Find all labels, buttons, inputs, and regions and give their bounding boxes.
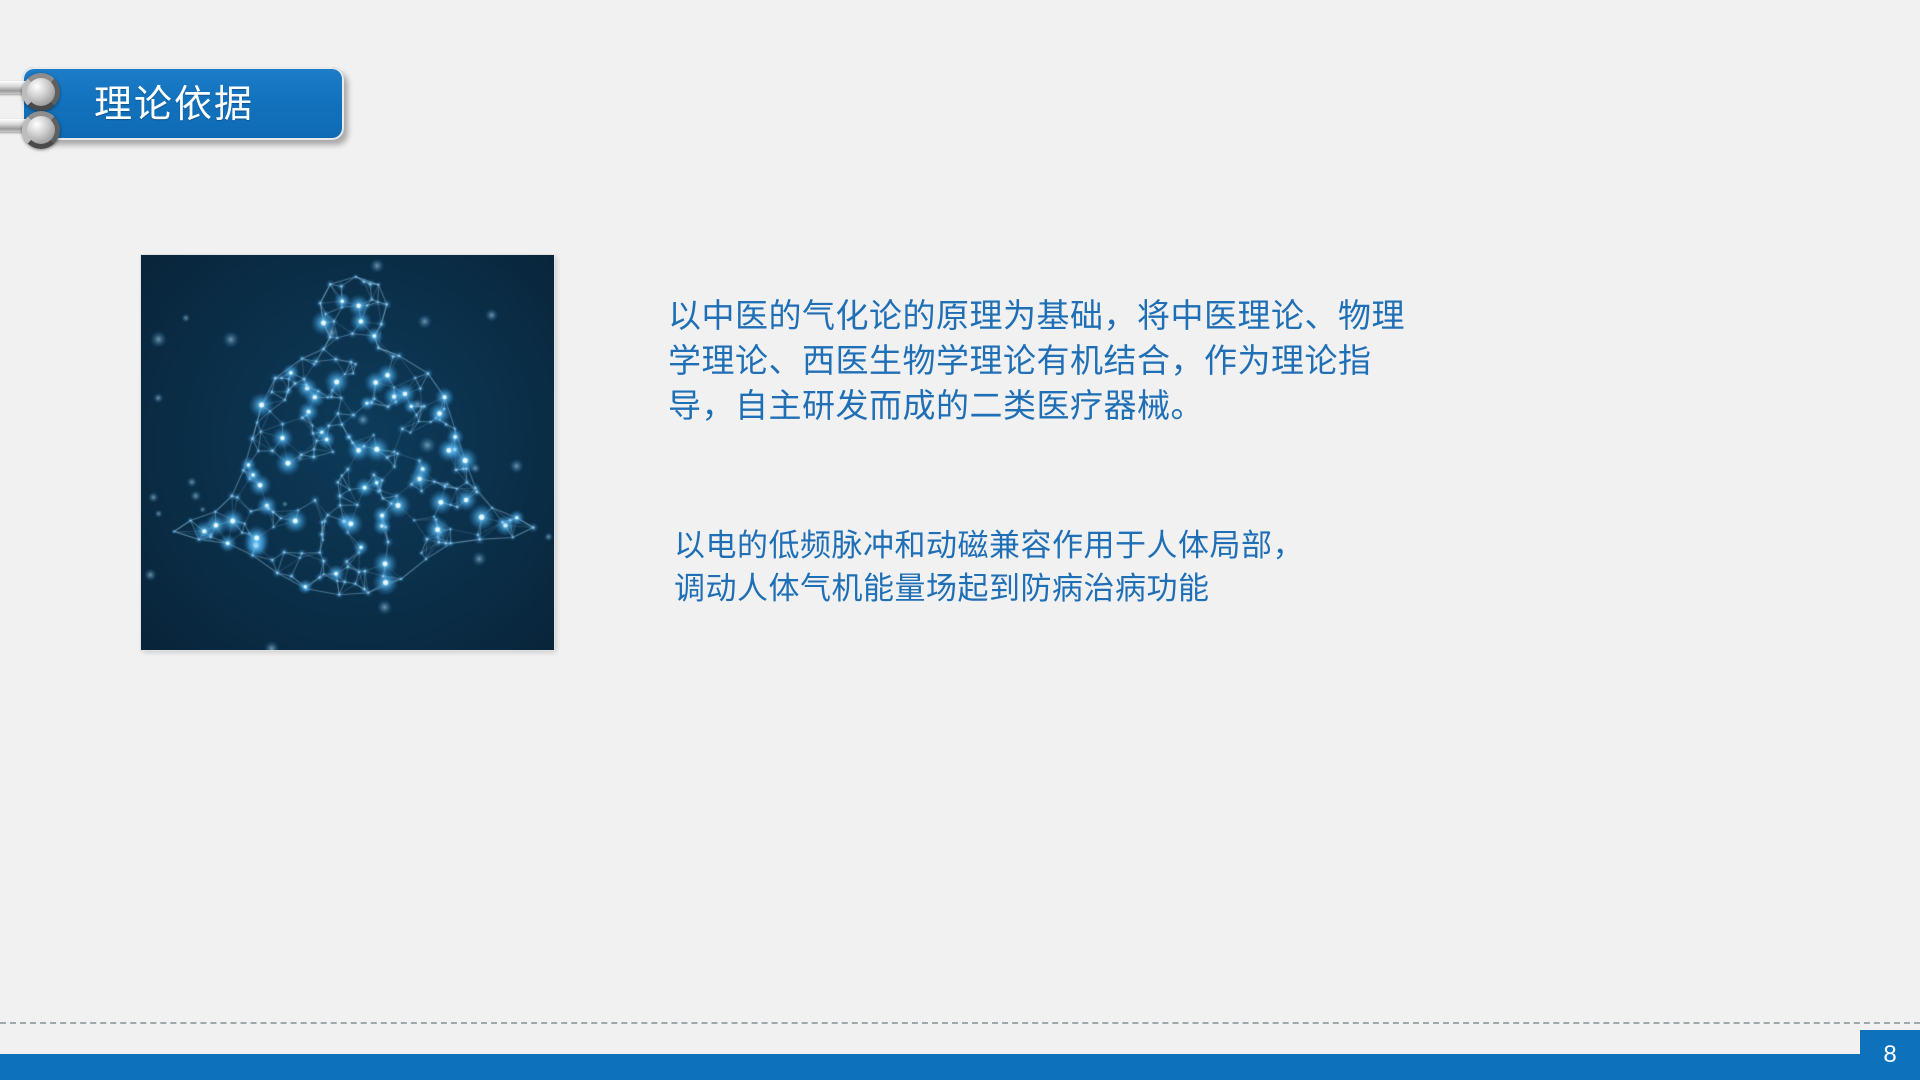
footer-bar	[0, 1054, 1920, 1080]
wireframe-meditation-image	[141, 255, 554, 650]
wireframe-body-canvas	[141, 255, 554, 650]
slide-title-banner: 理论依据	[22, 67, 344, 140]
spiral-ring-loop	[22, 111, 60, 149]
slide-title-text: 理论依据	[94, 85, 254, 123]
spiral-ring-bottom-icon	[0, 110, 68, 140]
page-number: 8	[1860, 1030, 1920, 1080]
presentation-slide: 理论依据 以中医的气化论的原理为基础，将中医理论、物理学理论、西医生物学理论有机…	[0, 0, 1920, 1080]
spiral-ring-top-icon	[0, 72, 68, 102]
theory-paragraph-one: 以中医的气化论的原理为基础，将中医理论、物理学理论、西医生物学理论有机结合，作为…	[668, 293, 1428, 428]
theory-paragraph-two: 以电的低频脉冲和动磁兼容作用于人体局部， 调动人体气机能量场起到防病治病功能	[674, 525, 1434, 611]
spiral-ring-loop	[22, 73, 60, 111]
footer-divider	[0, 1022, 1920, 1024]
